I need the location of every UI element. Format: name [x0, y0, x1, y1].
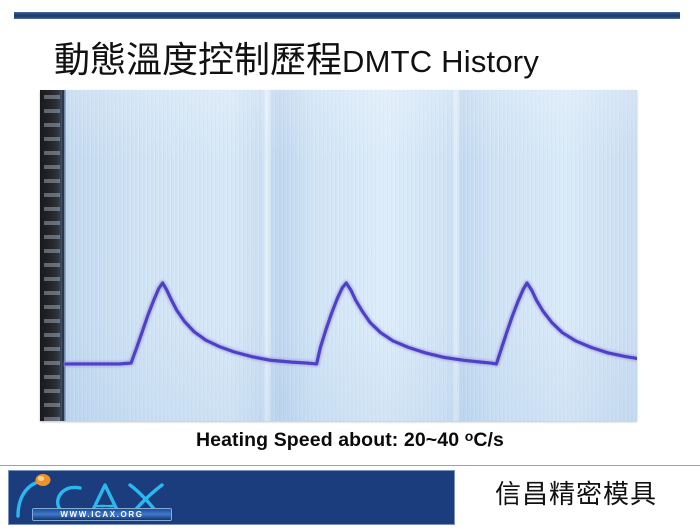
photo-caption: Heating Speed about: 20~40 oC/s	[0, 428, 700, 452]
page-title-cjk: 動態溫度控制歷程	[54, 40, 342, 80]
chart-recorder-photo	[40, 90, 637, 421]
icax-url-badge[interactable]: WWW.ICAX.ORG	[32, 508, 172, 521]
caption-unit-text: C/s	[473, 429, 504, 451]
title-divider-rule	[14, 12, 680, 19]
icax-logo[interactable]: WWW.ICAX.ORG	[12, 472, 182, 525]
caption-main-text: Heating Speed about: 20~40	[196, 429, 465, 451]
company-name-label: 信昌精密模具	[495, 474, 657, 511]
footer-divider-rule	[0, 465, 700, 466]
page-title: 動態溫度控制歷程DMTC History	[54, 36, 654, 84]
page-title-latin: DMTC History	[342, 44, 539, 79]
temperature-trace-plot	[40, 90, 637, 421]
